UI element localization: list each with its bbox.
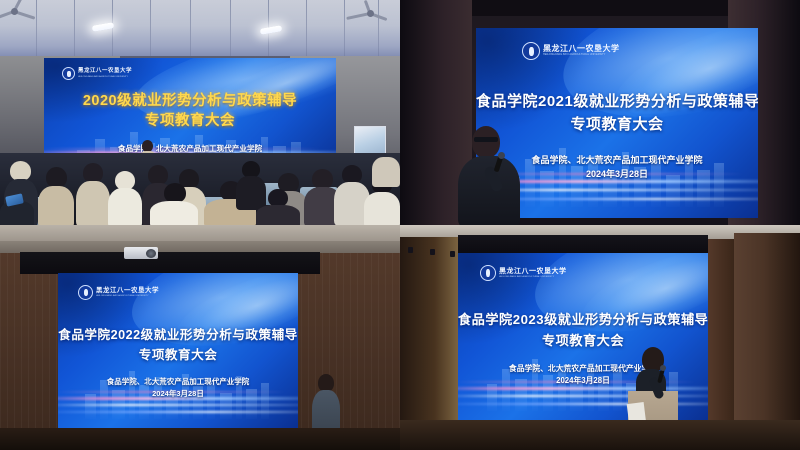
slide-title-line1: 食品学院2022级就业形势分析与政策辅导: [58, 324, 298, 343]
university-logo: 黑龙江八一农垦大学 HEILONGJIANG BAYI AGRICULTURAL…: [522, 42, 620, 60]
speaker-box: [408, 247, 413, 253]
presentation-slide: 黑龙江八一农垦大学 HEILONGJIANG BAYI AGRICULTURAL…: [58, 273, 298, 428]
logo-name-en: HEILONGJIANG BAYI AGRICULTURAL UNIVERSIT…: [499, 276, 567, 278]
university-logo: 黑龙江八一农垦大学 HEILONGJIANG BAYI AGRICULTURAL…: [480, 265, 567, 281]
panel-top-right: 黑龙江八一农垦大学 HEILONGJIANG BAYI AGRICULTURAL…: [400, 0, 800, 225]
logo-name-cn: 黑龙江八一农垦大学: [499, 268, 567, 275]
slide-title-line1: 食品学院2023级就业形势分析与政策辅导: [458, 309, 708, 328]
logo-name-cn: 黑龙江八一农垦大学: [78, 69, 132, 75]
seal-icon: [480, 265, 496, 281]
ceiling-band: [20, 252, 320, 274]
photo-collage: 黑龙江八一农垦大学 HEILONGJIANG BAYI AGRICULTURAL…: [0, 0, 800, 450]
floor: [0, 428, 400, 450]
logo-name-en: HEILONGJIANG BAYI AGRICULTURAL UNIVERSIT…: [96, 295, 159, 297]
glasses-icon: [474, 137, 498, 142]
slide-title-line2: 专项教育大会: [44, 109, 336, 130]
logo-name-en: HEILONGJIANG BAYI AGRICULTURAL UNIVERSIT…: [543, 55, 620, 57]
logo-name-cn: 黑龙江八一农垦大学: [543, 45, 620, 53]
wall-right: [734, 233, 800, 450]
university-logo: 黑龙江八一农垦大学 HEILONGJIANG BAYI AGRICULTURAL…: [78, 285, 159, 300]
slide-subtitle-org: 食品学院、北大荒农产品加工现代产业学院: [58, 376, 298, 387]
slide-title-line1: 食品学院2021级就业形势分析与政策辅导: [476, 90, 758, 111]
panel-bottom-left: 黑龙江八一农垦大学 HEILONGJIANG BAYI AGRICULTURAL…: [0, 225, 400, 450]
panel-bottom-right: 黑龙江八一农垦大学 HEILONGJIANG BAYI AGRICULTURAL…: [400, 225, 800, 450]
seal-icon: [522, 42, 540, 60]
ceiling-band: [472, 0, 728, 16]
wall-left: [400, 237, 458, 450]
led-screen: 黑龙江八一农垦大学 HEILONGJIANG BAYI AGRICULTURAL…: [58, 273, 298, 428]
slide-subtitle-date: 2024年3月28日: [58, 388, 298, 399]
ceiling-band: [458, 235, 708, 255]
university-logo: 黑龙江八一农垦大学 HEILONGJIANG BAYI AGRICULTURAL…: [62, 67, 132, 80]
speaker-box: [450, 251, 455, 257]
logo-name-cn: 黑龙江八一农垦大学: [96, 288, 159, 295]
audience: [0, 153, 400, 225]
presenter: [458, 126, 520, 225]
floor: [400, 420, 800, 450]
seal-icon: [62, 67, 75, 80]
panel-top-left: 黑龙江八一农垦大学 HEILONGJIANG BAYI AGRICULTURAL…: [0, 0, 400, 225]
logo-name-en: HEILONGJIANG BAYI AGRICULTURAL UNIVERSIT…: [78, 76, 132, 78]
phone-user: [0, 195, 34, 225]
slide-title-line1: 2020级就业形势分析与政策辅导: [44, 89, 336, 110]
projector-lens-icon: [146, 249, 156, 258]
slide-title-line2: 专项教育大会: [58, 344, 298, 363]
seal-icon: [78, 285, 93, 300]
speaker-box: [430, 249, 435, 255]
ceiling: [0, 0, 400, 64]
